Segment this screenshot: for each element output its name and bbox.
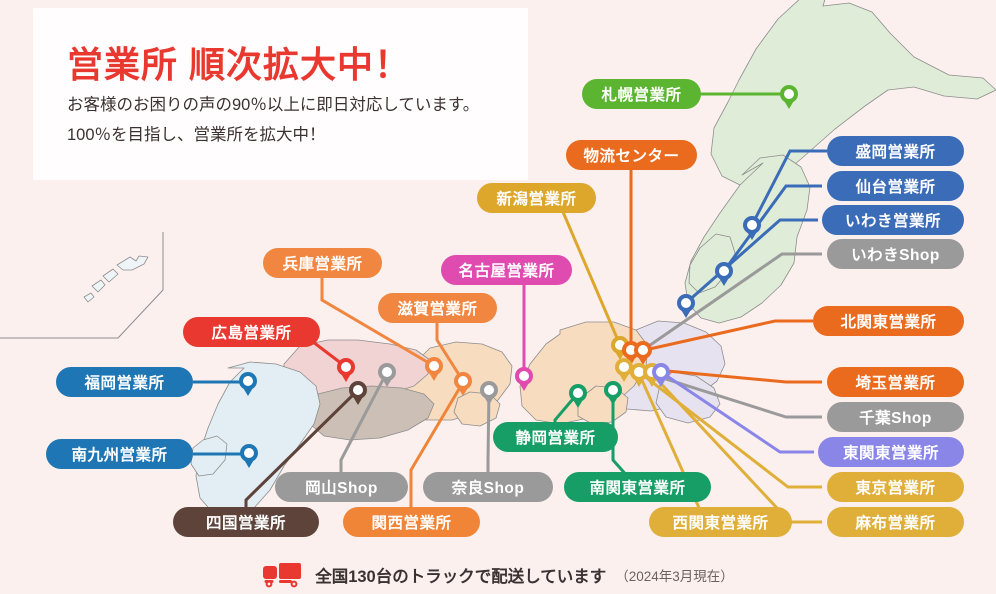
- label-pill-chiba-shop[interactable]: 千葉Shop: [827, 402, 964, 432]
- page-title: 営業所 順次拡大中！: [67, 36, 411, 88]
- label-pill-saitama[interactable]: 埼玉営業所: [827, 367, 964, 397]
- map-marker-kitakanto[interactable]: [634, 341, 652, 365]
- label-pill-text: 物流センター: [583, 144, 679, 166]
- label-pill-text: 奈良Shop: [452, 476, 525, 498]
- label-pill-text: 名古屋営業所: [458, 259, 554, 281]
- label-pill-text: 関西営業所: [371, 511, 451, 533]
- label-pill-tokyo[interactable]: 東京営業所: [827, 472, 964, 502]
- label-pill-text: 札幌営業所: [601, 83, 681, 105]
- label-pill-text: 北関東営業所: [840, 310, 936, 332]
- label-pill-higashikanto[interactable]: 東関東営業所: [818, 437, 964, 467]
- map-page: 営業所 順次拡大中！ お客様のお困りの声の90％以上に即日対応しています。 10…: [0, 0, 996, 594]
- label-pill-text: 静岡営業所: [515, 426, 595, 448]
- label-pill-kitakanto[interactable]: 北関東営業所: [813, 306, 964, 336]
- label-pill-shikoku[interactable]: 四国営業所: [173, 507, 319, 537]
- map-marker-morioka[interactable]: [743, 216, 761, 240]
- footer-note: （2024年3月現在）: [615, 565, 734, 585]
- footer-text: 全国130台のトラックで配送しています: [315, 563, 606, 587]
- map-marker-shizuoka[interactable]: [569, 384, 587, 408]
- map-marker-nagoya[interactable]: [515, 367, 533, 391]
- label-pill-text: 広島営業所: [211, 321, 291, 343]
- label-pill-text: 麻布営業所: [855, 511, 935, 533]
- map-marker-hiroshima[interactable]: [337, 358, 355, 382]
- label-pill-kansai[interactable]: 関西営業所: [343, 507, 480, 537]
- label-pill-text: 兵庫営業所: [282, 252, 362, 274]
- label-pill-niigata[interactable]: 新潟営業所: [477, 183, 596, 213]
- map-marker-nara[interactable]: [480, 381, 498, 405]
- truck-icon: [262, 562, 306, 588]
- footer: 全国130台のトラックで配送しています （2024年3月現在）: [0, 556, 996, 594]
- label-pill-text: 四国営業所: [206, 511, 286, 533]
- label-pill-text: 南関東営業所: [589, 476, 685, 498]
- map-marker-minamikanto[interactable]: [604, 381, 622, 405]
- map-marker-hyogo[interactable]: [425, 357, 443, 381]
- label-pill-text: 仙台営業所: [855, 175, 935, 197]
- label-pill-sendai[interactable]: 仙台営業所: [827, 171, 964, 201]
- label-pill-nara-shop[interactable]: 奈良Shop: [423, 472, 553, 502]
- label-pill-text: いわき営業所: [845, 209, 941, 231]
- map-marker-okayama[interactable]: [378, 363, 396, 387]
- label-pill-minamikanto[interactable]: 南関東営業所: [564, 472, 711, 502]
- header-subtitle: お客様のお困りの声の90％以上に即日対応しています。 100％を目指し、営業所を…: [67, 90, 479, 150]
- label-pill-text: 東京営業所: [855, 476, 935, 498]
- map-marker-higashikanto[interactable]: [652, 363, 670, 387]
- map-marker-iwaki[interactable]: [677, 294, 695, 318]
- label-pill-text: 東関東営業所: [843, 441, 939, 463]
- header-subtitle-line1: お客様のお困りの声の90％以上に即日対応しています。: [67, 90, 479, 120]
- label-pill-text: 岡山Shop: [305, 476, 378, 498]
- label-pill-text: 埼玉営業所: [855, 371, 935, 393]
- label-pill-butsuryu[interactable]: 物流センター: [566, 140, 697, 170]
- label-pill-nagoya[interactable]: 名古屋営業所: [441, 255, 572, 285]
- label-pill-text: 盛岡営業所: [855, 140, 935, 162]
- label-pill-text: いわきShop: [851, 243, 940, 265]
- label-pill-azabu[interactable]: 麻布営業所: [827, 507, 964, 537]
- label-pill-shizuoka[interactable]: 静岡営業所: [493, 422, 618, 452]
- label-pill-hyogo[interactable]: 兵庫営業所: [263, 248, 382, 278]
- label-pill-text: 滋賀営業所: [397, 297, 477, 319]
- label-pill-text: 千葉Shop: [859, 406, 932, 428]
- label-pill-okayama-shop[interactable]: 岡山Shop: [275, 472, 408, 502]
- map-marker-shiga[interactable]: [454, 372, 472, 396]
- map-marker-sendai[interactable]: [715, 262, 733, 286]
- header-card: 営業所 順次拡大中！ お客様のお困りの声の90％以上に即日対応しています。 10…: [33, 8, 528, 180]
- label-pill-text: 南九州営業所: [71, 443, 167, 465]
- label-pill-text: 福岡営業所: [84, 371, 164, 393]
- label-pill-minamikyushu[interactable]: 南九州営業所: [46, 439, 193, 469]
- map-marker-fukuoka[interactable]: [239, 372, 257, 396]
- header-subtitle-line2: 100％を目指し、営業所を拡大中！: [67, 120, 479, 150]
- map-marker-shikoku[interactable]: [349, 381, 367, 405]
- label-pill-fukuoka[interactable]: 福岡営業所: [56, 367, 193, 397]
- label-pill-iwaki[interactable]: いわき営業所: [822, 205, 964, 235]
- map-marker-minamikyushu[interactable]: [240, 444, 258, 468]
- label-pill-sapporo[interactable]: 札幌営業所: [582, 79, 701, 109]
- label-pill-iwaki-shop[interactable]: いわきShop: [827, 239, 964, 269]
- label-pill-shiga[interactable]: 滋賀営業所: [378, 293, 497, 323]
- label-pill-nishikanto[interactable]: 西関東営業所: [649, 507, 792, 537]
- label-pill-morioka[interactable]: 盛岡営業所: [827, 136, 964, 166]
- label-pill-text: 西関東営業所: [672, 511, 768, 533]
- label-pill-hiroshima[interactable]: 広島営業所: [183, 317, 320, 347]
- map-marker-sapporo[interactable]: [780, 85, 798, 109]
- label-pill-text: 新潟営業所: [496, 187, 576, 209]
